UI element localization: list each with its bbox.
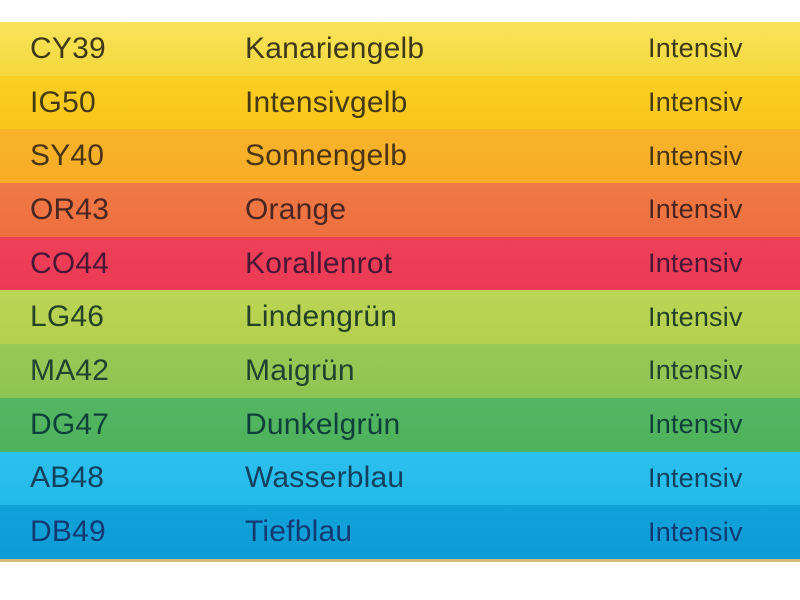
color-intensity: Intensiv [648,87,743,118]
table-row[interactable]: DG47DunkelgrünIntensiv [0,398,800,452]
color-code: OR43 [30,193,109,227]
color-intensity: Intensiv [648,355,743,386]
color-intensity: Intensiv [648,409,743,440]
color-name: Lindengrün [245,300,397,334]
color-intensity: Intensiv [648,33,743,64]
table-row[interactable]: DB49TiefblauIntensiv [0,505,800,559]
color-intensity: Intensiv [648,141,743,172]
color-code: SY40 [30,139,104,173]
color-name: Kanariengelb [245,32,424,66]
color-swatch-table: CY39KanariengelbIntensivIG50Intensivgelb… [0,22,800,562]
color-code: MA42 [30,354,109,388]
color-code: CO44 [30,247,109,281]
table-row[interactable]: CY39KanariengelbIntensiv [0,22,800,76]
color-name: Orange [245,193,346,227]
color-name: Dunkelgrün [245,408,400,442]
color-code: LG46 [30,300,104,334]
color-intensity: Intensiv [648,302,743,333]
table-row[interactable]: CO44KorallenrotIntensiv [0,237,800,291]
color-intensity: Intensiv [648,517,743,548]
color-name: Wasserblau [245,461,404,495]
color-intensity: Intensiv [648,194,743,225]
color-name: Tiefblau [245,515,352,549]
color-intensity: Intensiv [648,248,743,279]
table-row[interactable]: OR43OrangeIntensiv [0,183,800,237]
color-code: CY39 [30,32,106,66]
color-intensity: Intensiv [648,463,743,494]
color-code: DB49 [30,515,106,549]
table-row[interactable]: SY40SonnengelbIntensiv [0,129,800,183]
color-name: Intensivgelb [245,86,408,120]
color-code: IG50 [30,86,96,120]
table-row[interactable]: AB48WasserblauIntensiv [0,452,800,506]
color-code: AB48 [30,461,104,495]
table-row[interactable]: MA42MaigrünIntensiv [0,344,800,398]
table-row[interactable]: IG50IntensivgelbIntensiv [0,76,800,130]
color-name: Maigrün [245,354,355,388]
color-name: Sonnengelb [245,139,407,173]
color-code: DG47 [30,408,109,442]
table-row[interactable]: LG46LindengrünIntensiv [0,290,800,344]
color-name: Korallenrot [245,247,392,281]
